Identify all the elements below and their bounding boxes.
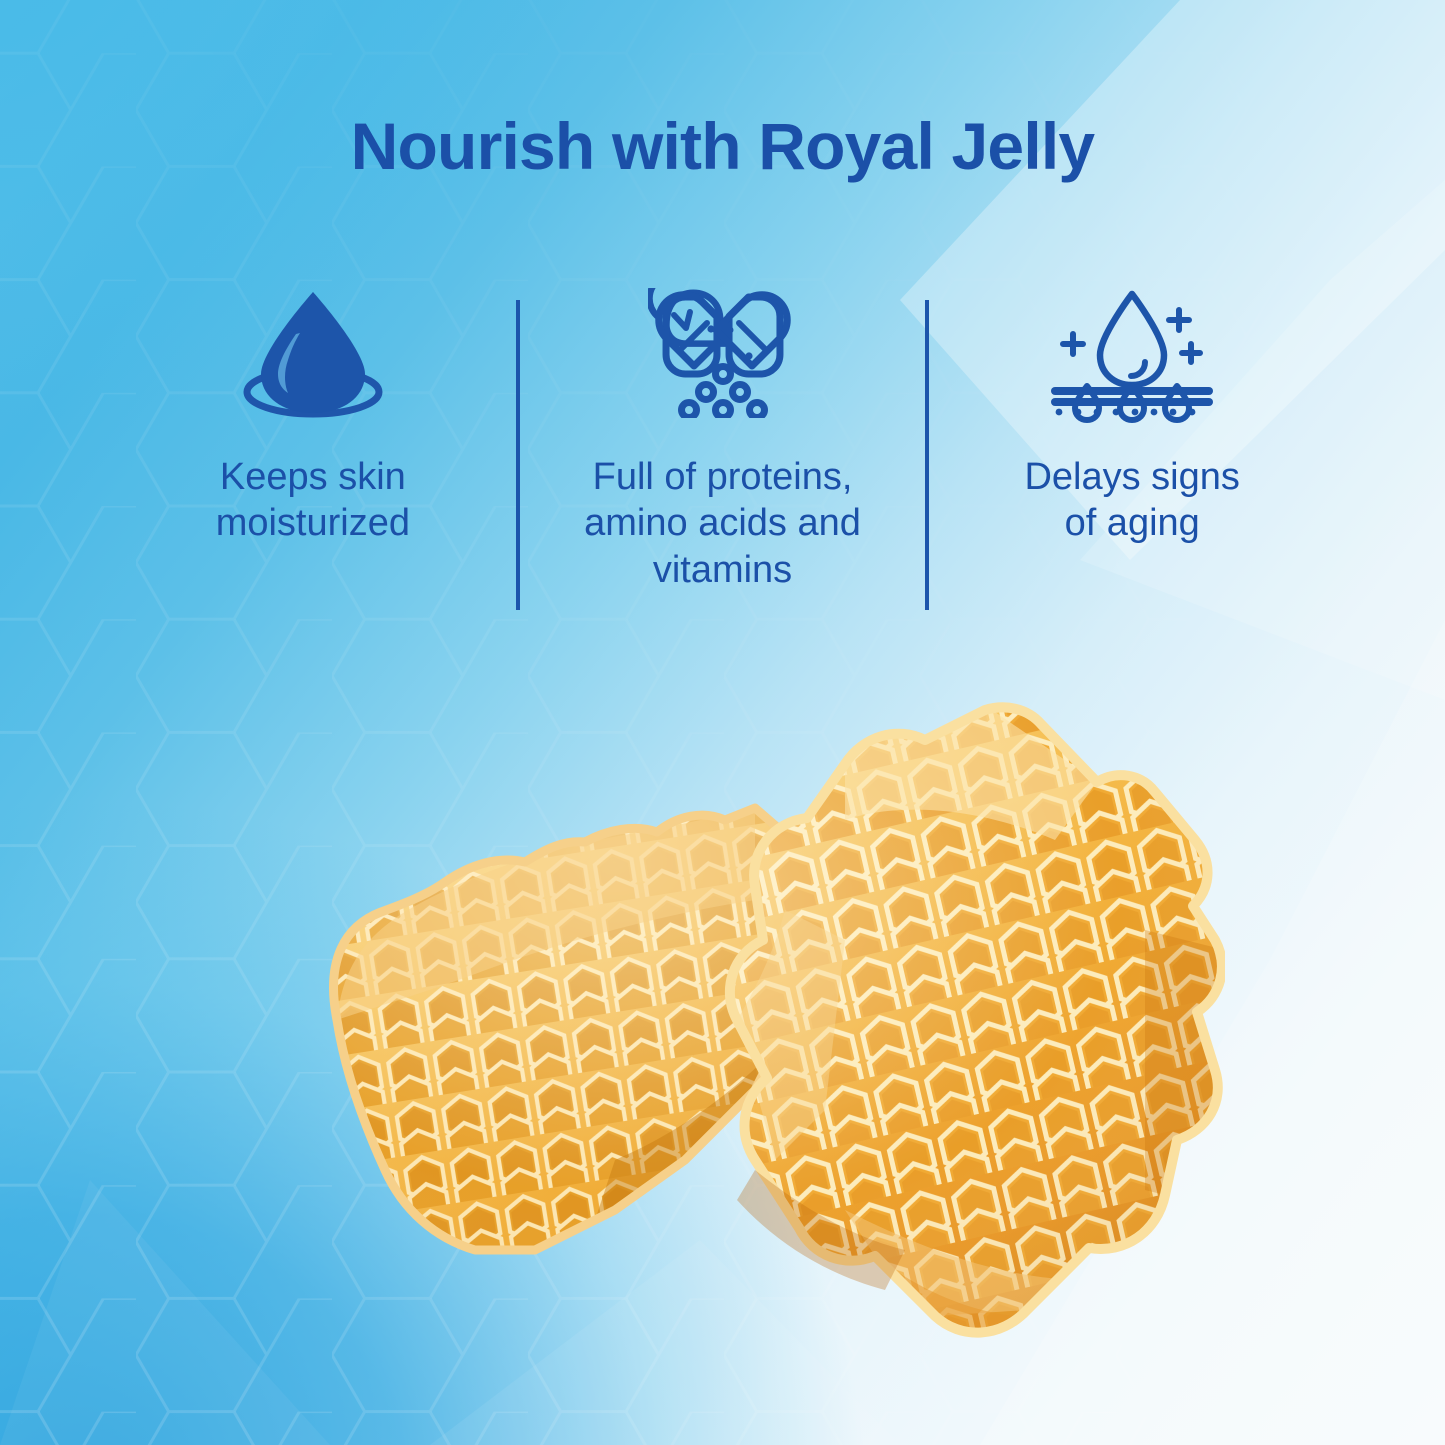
feature-label: Delays signs of aging (1024, 454, 1239, 547)
water-droplet-ripple-icon (233, 288, 393, 418)
open-capsule-granules-icon (648, 288, 798, 418)
feature-item-nutrients: Full of proteins, amino acids and vitami… (520, 288, 926, 593)
feature-label: Keeps skin moisturized (216, 454, 410, 547)
feature-label: Full of proteins, amino acids and vitami… (584, 454, 861, 593)
feature-item-anti-aging: Delays signs of aging (929, 288, 1335, 547)
page-title: Nourish with Royal Jelly (0, 112, 1445, 181)
droplet-skin-layer-absorption-icon (1047, 288, 1217, 418)
royal-jelly-infographic: Nourish with Royal Jelly Keeps skin mois… (0, 0, 1445, 1445)
feature-list: Keeps skin moisturized (110, 288, 1335, 610)
honeycomb-photo (285, 690, 1225, 1380)
feature-item-moisturizer: Keeps skin moisturized (110, 288, 516, 547)
